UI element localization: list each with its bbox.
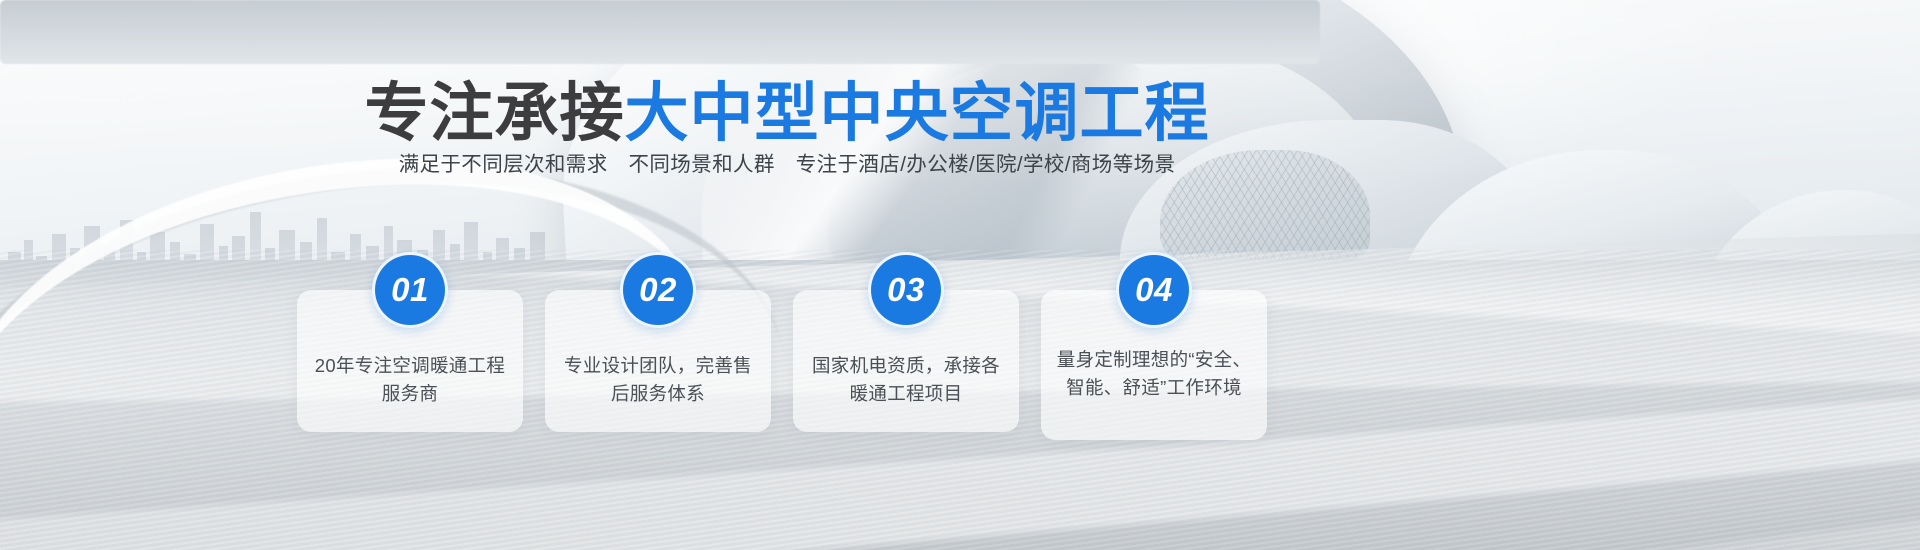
headline-part-dark: 专注承接 [365,77,625,149]
badge-number-02: 02 [620,252,696,328]
page-subtitle: 满足于不同层次和需求 不同场景和人群 专注于酒店/办公楼/医院/学校/商场等场景 [0,151,1574,180]
badge-number-01: 01 [372,252,448,328]
feature-card-01: 01 20年专注空调暖通工程服务商 [297,290,523,432]
feature-card-04-text: 量身定制理想的“安全、智能、舒适”工作环境 [1051,346,1257,402]
hero-banner: 专注承接大中型中央空调工程 满足于不同层次和需求 不同场景和人群 专注于酒店/办… [0,0,1920,550]
headline-part-blue: 大中型中央空调工程 [625,77,1210,149]
feature-card-03: 03 国家机电资质，承接各暖通工程项目 [793,290,1019,432]
feature-card-02: 02 专业设计团队，完善售后服务体系 [545,290,771,432]
page-title: 专注承接大中型中央空调工程 [0,81,1574,145]
feature-card-01-text: 20年专注空调暖通工程服务商 [307,352,513,408]
feature-card-02-text: 专业设计团队，完善售后服务体系 [555,352,761,408]
feature-card-03-text: 国家机电资质，承接各暖通工程项目 [803,352,1009,408]
feature-card-04: 04 量身定制理想的“安全、智能、舒适”工作环境 [1041,290,1267,440]
feature-card-list: 01 20年专注空调暖通工程服务商 02 专业设计团队，完善售后服务体系 03 … [297,252,1297,442]
badge-number-04: 04 [1116,252,1192,328]
badge-number-03: 03 [868,252,944,328]
